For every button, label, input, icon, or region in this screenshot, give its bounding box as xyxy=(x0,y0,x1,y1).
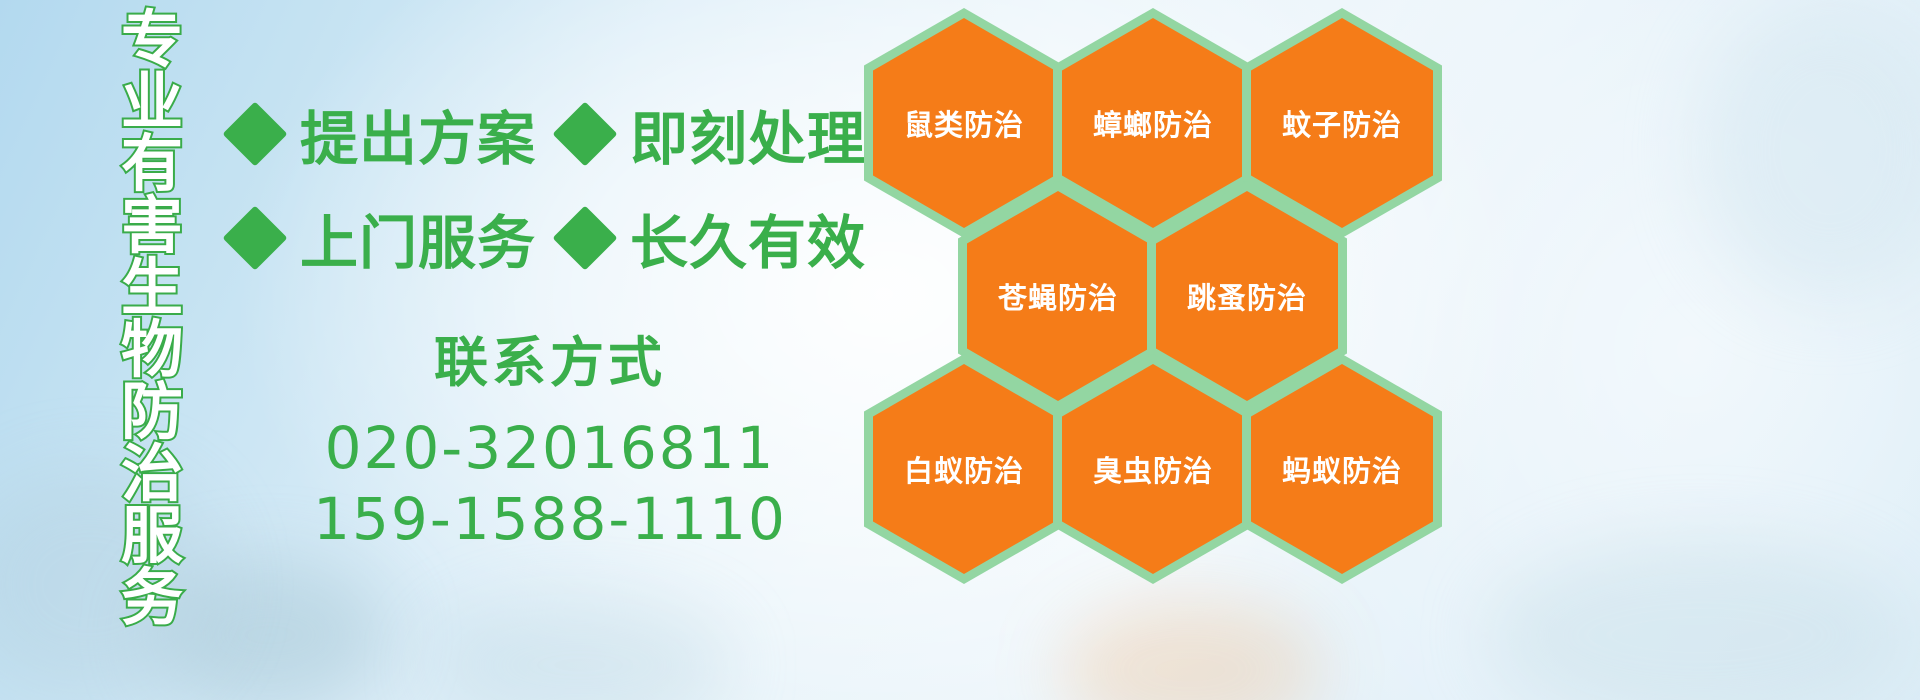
vertical-slogan-char: 防 xyxy=(121,382,183,444)
hex-cell-bedbug[interactable]: 臭虫防治 xyxy=(1053,354,1253,584)
diamond-icon xyxy=(552,205,617,270)
hex-label: 苍蝇防治 xyxy=(998,275,1118,317)
feature-row: 上门服务 长久有效 xyxy=(232,186,872,290)
feature-item: 即刻处理 xyxy=(562,92,866,176)
feature-label: 提出方案 xyxy=(300,92,536,176)
hex-label: 臭虫防治 xyxy=(1093,448,1213,490)
diamond-icon xyxy=(222,205,287,270)
hex-label: 跳蚤防治 xyxy=(1187,275,1307,317)
feature-label: 即刻处理 xyxy=(630,92,866,176)
background-blur-blob xyxy=(1490,540,1910,700)
background-blur-blob xyxy=(1700,0,1920,300)
hex-label: 蟑螂防治 xyxy=(1093,102,1213,144)
feature-item: 长久有效 xyxy=(562,196,866,280)
vertical-slogan-char: 服 xyxy=(121,506,183,568)
hex-label: 白蚁防治 xyxy=(904,448,1024,490)
background-blur-blob xyxy=(430,600,730,700)
feature-label: 长久有效 xyxy=(630,196,866,280)
feature-item: 提出方案 xyxy=(232,92,562,176)
vertical-slogan-char: 生 xyxy=(121,258,183,320)
feature-row: 提出方案 即刻处理 xyxy=(232,82,872,186)
vertical-slogan: 专 业 有 害 生 物 防 治 服 务 xyxy=(104,10,200,570)
vertical-slogan-char: 业 xyxy=(121,72,183,134)
hex-label: 鼠类防治 xyxy=(904,102,1024,144)
hex-label: 蚂蚁防治 xyxy=(1282,448,1402,490)
feature-list: 提出方案 即刻处理 上门服务 长久有效 xyxy=(232,82,872,290)
banner-canvas: 专 业 有 害 生 物 防 治 服 务 提出方案 即刻处理 上门服务 xyxy=(0,0,1920,700)
background-blur-blob xyxy=(150,560,390,700)
contact-title: 联系方式 xyxy=(240,318,860,397)
vertical-slogan-char: 物 xyxy=(121,320,183,382)
contact-block: 联系方式 020-32016811 159-1588-1110 xyxy=(240,318,860,555)
diamond-icon xyxy=(222,101,287,166)
feature-item: 上门服务 xyxy=(232,196,562,280)
diamond-icon xyxy=(552,101,617,166)
hex-label: 蚊子防治 xyxy=(1282,102,1402,144)
hex-cell-termite[interactable]: 白蚁防治 xyxy=(864,354,1064,584)
contact-phone-landline[interactable]: 020-32016811 xyxy=(240,413,860,484)
hex-cell-ant[interactable]: 蚂蚁防治 xyxy=(1242,354,1442,584)
vertical-slogan-char: 专 xyxy=(121,10,183,72)
vertical-slogan-char: 务 xyxy=(121,568,183,630)
vertical-slogan-char: 有 xyxy=(121,134,183,196)
vertical-slogan-char: 治 xyxy=(121,444,183,506)
feature-label: 上门服务 xyxy=(300,196,536,280)
contact-phone-mobile[interactable]: 159-1588-1110 xyxy=(240,484,860,555)
vertical-slogan-char: 害 xyxy=(121,196,183,258)
service-honeycomb: 鼠类防治 蟑螂防治 蚊子防治 苍蝇防治 跳蚤防治 xyxy=(856,0,1476,700)
